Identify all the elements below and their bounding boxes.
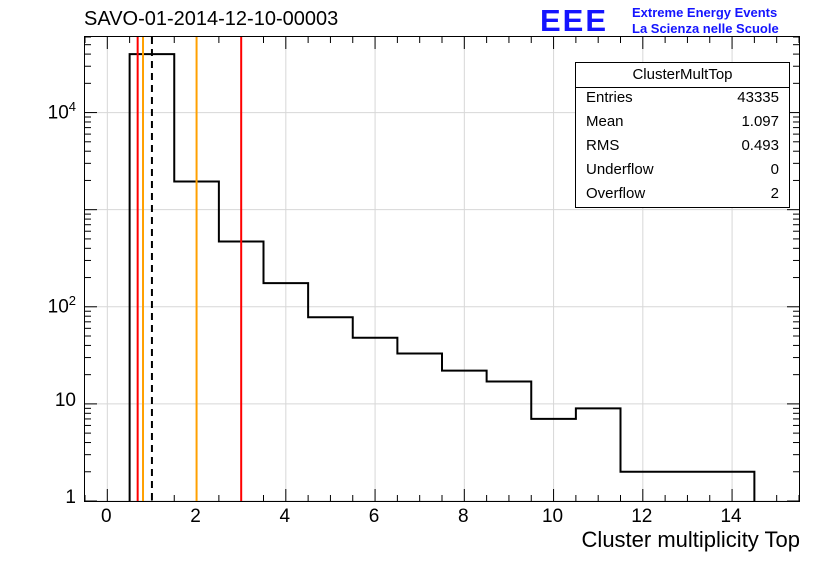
eee-logo: EEE Extreme Energy Events La Scienza nel… <box>540 3 830 39</box>
y-tick-label: 1 <box>0 487 76 509</box>
y-tick-label: 10 <box>0 390 76 412</box>
stats-key-rms: RMS <box>586 137 619 154</box>
x-tick-label: 4 <box>255 506 315 528</box>
stats-row-mean: Mean 1.097 <box>576 113 789 137</box>
x-axis-title: Cluster multiplicity Top <box>0 527 800 553</box>
page-title: SAVO-01-2014-12-10-00003 <box>84 8 338 31</box>
stats-key-mean: Mean <box>586 113 624 130</box>
y-tick-label: 104 <box>0 99 76 124</box>
stats-value-overflow: 2 <box>771 185 779 202</box>
stats-divider <box>576 87 789 88</box>
x-tick-label: 12 <box>612 506 672 528</box>
eee-logo-mark: EEE <box>540 3 608 39</box>
stats-row-rms: RMS 0.493 <box>576 137 789 161</box>
eee-logo-line1: Extreme Energy Events <box>632 5 777 20</box>
stats-title: ClusterMultTop <box>576 63 789 83</box>
x-tick-label: 14 <box>701 506 761 528</box>
stats-value-underflow: 0 <box>771 161 779 178</box>
stats-row-overflow: Overflow 2 <box>576 185 789 209</box>
x-tick-label: 2 <box>166 506 226 528</box>
stats-row-entries: Entries 43335 <box>576 89 789 113</box>
x-tick-label: 0 <box>76 506 136 528</box>
eee-logo-line2: La Scienza nelle Scuole <box>632 21 779 36</box>
x-tick-label: 8 <box>433 506 493 528</box>
stats-key-entries: Entries <box>586 89 633 106</box>
stats-value-mean: 1.097 <box>741 113 779 130</box>
stats-value-entries: 43335 <box>737 89 779 106</box>
stats-box: ClusterMultTop Entries 43335 Mean 1.097 … <box>575 62 790 208</box>
stats-value-rms: 0.493 <box>741 137 779 154</box>
x-tick-label: 6 <box>344 506 404 528</box>
x-tick-label: 10 <box>523 506 583 528</box>
stats-key-overflow: Overflow <box>586 185 645 202</box>
stats-key-underflow: Underflow <box>586 161 654 178</box>
y-tick-label: 102 <box>0 293 76 318</box>
stats-row-underflow: Underflow 0 <box>576 161 789 185</box>
